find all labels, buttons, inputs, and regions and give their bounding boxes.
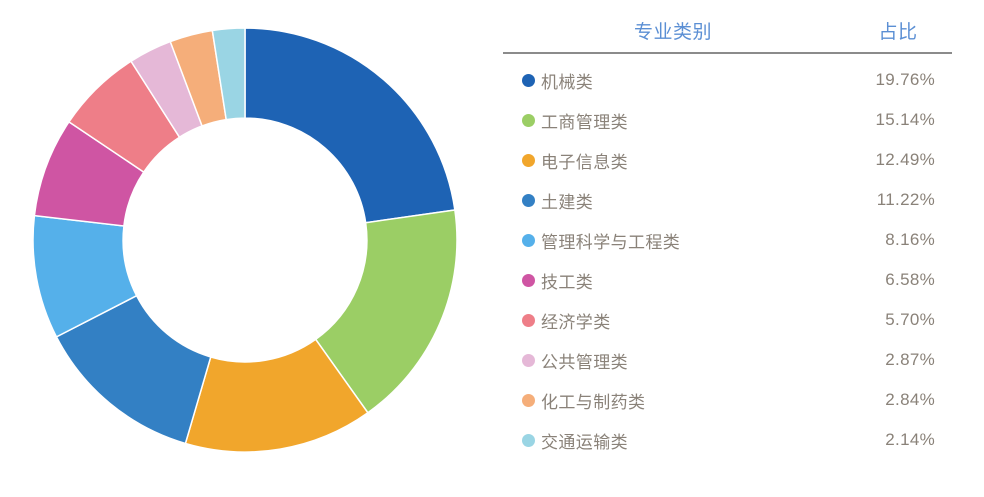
legend-color-dot-icon: [522, 354, 535, 367]
legend-color-dot-icon: [522, 434, 535, 447]
legend-ratio-value: 2.14%: [793, 430, 935, 450]
legend-row[interactable]: 化工与制药类2.84%: [503, 380, 953, 420]
legend-color-dot-icon: [522, 74, 535, 87]
legend-ratio-value: 6.58%: [793, 270, 935, 290]
legend-header-ratio: 占比: [843, 17, 953, 44]
donut-chart-svg: [33, 26, 457, 454]
legend-ratio-value: 2.84%: [793, 390, 935, 410]
legend-header-row: 专业类别 占比: [503, 10, 953, 52]
legend-row[interactable]: 交通运输类2.14%: [503, 420, 953, 460]
legend-row[interactable]: 电子信息类12.49%: [503, 140, 953, 180]
legend-category-label: 电子信息类: [541, 148, 628, 173]
donut-slice[interactable]: [245, 28, 455, 223]
legend-ratio-value: 11.22%: [793, 190, 935, 210]
legend-table: 专业类别 占比 机械类19.76%工商管理类15.14%电子信息类12.49%土…: [503, 10, 953, 480]
legend-category-label: 土建类: [541, 188, 593, 213]
legend-color-dot-icon: [522, 154, 535, 167]
legend-ratio-value: 8.16%: [793, 230, 935, 250]
legend-category-label: 公共管理类: [541, 348, 628, 373]
legend-ratio-value: 12.49%: [793, 150, 935, 170]
legend-category-label: 机械类: [541, 68, 593, 93]
legend-row[interactable]: 公共管理类2.87%: [503, 340, 953, 380]
legend-row[interactable]: 机械类19.76%: [503, 60, 953, 100]
legend-color-dot-icon: [522, 274, 535, 287]
legend-header-category: 专业类别: [503, 17, 843, 44]
chart-page: 专业类别 占比 机械类19.76%工商管理类15.14%电子信息类12.49%土…: [0, 0, 984, 497]
legend-ratio-value: 19.76%: [793, 70, 935, 90]
donut-chart: [33, 26, 457, 454]
legend-category-label: 管理科学与工程类: [541, 228, 680, 253]
legend-category-label: 化工与制药类: [541, 388, 645, 413]
donut-slice-group: [33, 28, 457, 452]
legend-category-label: 交通运输类: [541, 428, 628, 453]
legend-ratio-value: 15.14%: [793, 110, 935, 130]
legend-row[interactable]: 工商管理类15.14%: [503, 100, 953, 140]
legend-row[interactable]: 土建类11.22%: [503, 180, 953, 220]
legend-ratio-value: 2.87%: [793, 350, 935, 370]
legend-row-list: 机械类19.76%工商管理类15.14%电子信息类12.49%土建类11.22%…: [503, 60, 953, 460]
legend-category-label: 工商管理类: [541, 108, 628, 133]
legend-color-dot-icon: [522, 194, 535, 207]
legend-color-dot-icon: [522, 314, 535, 327]
legend-ratio-value: 5.70%: [793, 310, 935, 330]
legend-header-divider: [503, 52, 952, 54]
legend-category-label: 技工类: [541, 268, 593, 293]
legend-category-label: 经济学类: [541, 308, 611, 333]
legend-row[interactable]: 管理科学与工程类8.16%: [503, 220, 953, 260]
legend-row[interactable]: 经济学类5.70%: [503, 300, 953, 340]
legend-color-dot-icon: [522, 234, 535, 247]
legend-color-dot-icon: [522, 394, 535, 407]
legend-color-dot-icon: [522, 114, 535, 127]
legend-row[interactable]: 技工类6.58%: [503, 260, 953, 300]
